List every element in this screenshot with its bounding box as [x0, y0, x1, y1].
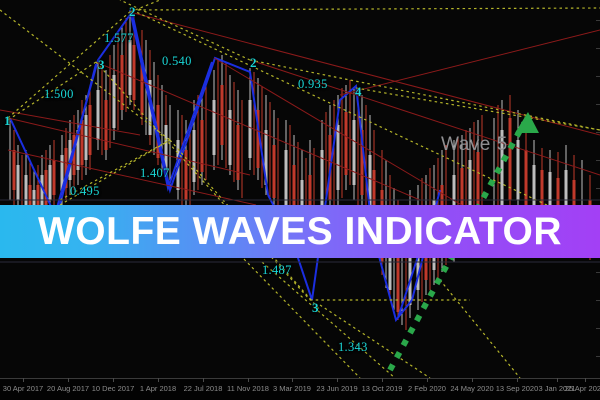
- axis-tick-label: 3 Mar 2019: [273, 384, 311, 393]
- axis-tick-label: 25 Apr 2021: [565, 384, 600, 393]
- axis-tick-label: 30 Apr 2017: [3, 384, 43, 393]
- axis-tick-label: 13 Sep 2020: [496, 384, 539, 393]
- wave-label-3-left: 3: [98, 57, 105, 73]
- axis-tick-label: 13 Oct 2019: [362, 384, 403, 393]
- banner-title: WOLFE WAVES INDICATOR: [38, 212, 562, 251]
- axis-tick: [68, 378, 69, 382]
- wave-label-3-bottom: 3: [312, 300, 319, 316]
- fib-label-1577: 1.577: [104, 31, 134, 46]
- date-axis: 30 Apr 201720 Aug 201710 Dec 20171 Apr 2…: [0, 378, 600, 400]
- fib-label-0935: 0.935: [298, 77, 328, 92]
- price-axis-tick: [596, 356, 600, 357]
- wave5-annotation: Wave 5: [441, 134, 508, 156]
- price-axis-tick: [596, 328, 600, 329]
- axis-tick-label: 2 Feb 2020: [408, 384, 446, 393]
- axis-tick-label: 10 Dec 2017: [92, 384, 135, 393]
- fib-label-1343: 1.343: [338, 340, 368, 355]
- axis-tick: [337, 378, 338, 382]
- price-axis-tick: [596, 76, 600, 77]
- fib-label-0495: 0.495: [70, 184, 100, 199]
- axis-tick-label: 20 Aug 2017: [47, 384, 89, 393]
- axis-tick-label: 24 May 2020: [450, 384, 493, 393]
- axis-tick: [292, 378, 293, 382]
- axis-tick: [382, 378, 383, 382]
- axis-tick: [517, 378, 518, 382]
- axis-tick: [248, 378, 249, 382]
- wave-label-4: 4: [355, 84, 362, 100]
- wave-label-2-top: 2: [129, 4, 136, 20]
- axis-tick-label: 1 Apr 2018: [140, 384, 176, 393]
- axis-tick: [557, 378, 558, 382]
- fib-label-0540: 0.540: [162, 54, 192, 69]
- axis-tick: [472, 378, 473, 382]
- axis-tick-label: 22 Jul 2018: [184, 384, 223, 393]
- price-axis-tick: [596, 132, 600, 133]
- axis-tick-label: 11 Nov 2018: [227, 384, 269, 393]
- axis-tick: [23, 378, 24, 382]
- axis-line: [0, 378, 600, 379]
- title-banner: WOLFE WAVES INDICATOR: [0, 205, 600, 258]
- wave-label-2-mid: 2: [250, 55, 257, 71]
- axis-tick: [203, 378, 204, 382]
- axis-tick: [158, 378, 159, 382]
- axis-tick-label: 23 Jun 2019: [316, 384, 357, 393]
- fib-label-1487: 1.487: [262, 263, 292, 278]
- price-axis-tick: [596, 104, 600, 105]
- axis-tick: [585, 378, 586, 382]
- price-axis-tick: [596, 300, 600, 301]
- price-axis-tick: [596, 272, 600, 273]
- price-chart[interactable]: 1 2 3 3 4 2 1.577 0.540 1.500 0.935 0.49…: [0, 0, 600, 378]
- price-axis-tick: [596, 20, 600, 21]
- axis-tick: [113, 378, 114, 382]
- price-axis-tick: [596, 188, 600, 189]
- price-axis-tick: [596, 48, 600, 49]
- wave-label-1: 1: [4, 113, 11, 129]
- chart-screenshot: 1 2 3 3 4 2 1.577 0.540 1.500 0.935 0.49…: [0, 0, 600, 400]
- axis-tick: [427, 378, 428, 382]
- fib-label-1407: 1.407: [140, 166, 170, 181]
- fib-label-1500: 1.500: [44, 87, 74, 102]
- price-axis-tick: [596, 160, 600, 161]
